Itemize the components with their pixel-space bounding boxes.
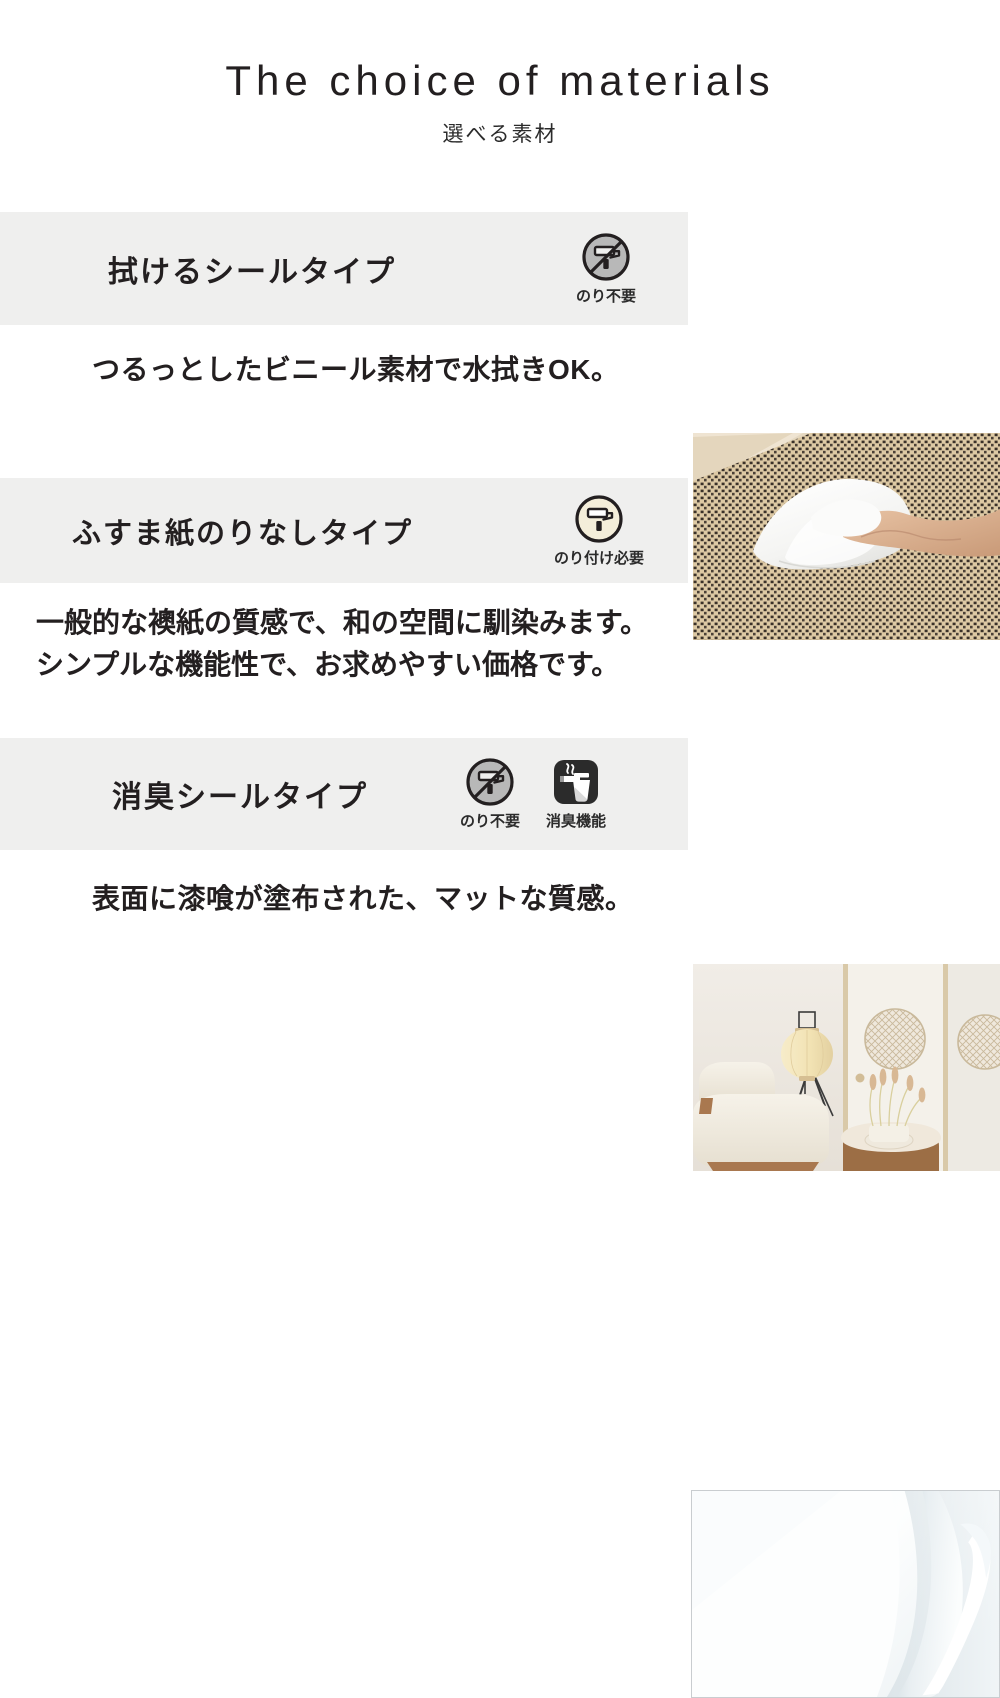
badge-label: のり不要	[460, 810, 520, 831]
material-section-deodorizing: 消臭シールタイプ のり不要	[0, 730, 1000, 980]
description-line: つるっとしたビニール素材で水拭きOK。	[92, 349, 664, 391]
badge-deodorizing: 消臭機能	[540, 757, 612, 831]
deodorizing-function-icon	[551, 757, 601, 807]
badge-label: 消臭機能	[546, 810, 606, 831]
material-section-fusuma-no-glue: ふすま紙のりなしタイプ のり付け必要 一般的な襖紙の質感で、和の空間に馴染みます…	[0, 470, 1000, 715]
no-glue-roller-icon	[465, 757, 515, 807]
section-header-band: 消臭シールタイプ のり不要	[0, 738, 688, 850]
section-description: つるっとしたビニール素材で水拭きOK。	[0, 349, 688, 391]
section-title: 消臭シールタイプ	[112, 772, 368, 816]
badge-group: のり不要	[570, 232, 672, 306]
japanese-interior-fusuma-photo	[693, 964, 1000, 1171]
page-header: The choice of materials 選べる素材	[0, 0, 1000, 200]
description-line: シンプルな機能性で、お求めやすい価格です。	[36, 644, 664, 686]
badge-no-glue: のり不要	[454, 757, 526, 831]
section-title: 拭けるシールタイプ	[108, 247, 396, 291]
section-description: 表面に漆喰が塗布された、マットな質感。	[0, 878, 688, 920]
badge-glue-required: のり付け必要	[546, 494, 652, 568]
description-line: 表面に漆喰が塗布された、マットな質感。	[92, 878, 664, 920]
badge-no-glue: のり不要	[570, 232, 642, 306]
material-section-wipeable: 拭けるシールタイプ のり不要 つるっとしたビニール素材で水拭きOK。	[0, 205, 1000, 450]
white-matte-sheet-photo	[691, 1490, 1000, 1698]
badge-label: のり付け必要	[554, 547, 644, 568]
section-description: 一般的な襖紙の質感で、和の空間に馴染みます。 シンプルな機能性で、お求めやすい価…	[0, 602, 688, 686]
page-title: The choice of materials	[0, 0, 1000, 104]
no-glue-roller-icon	[581, 232, 631, 282]
badge-label: のり不要	[576, 285, 636, 306]
badge-group: のり付け必要	[546, 494, 672, 568]
section-header-band: 拭けるシールタイプ のり不要	[0, 212, 688, 325]
description-line: 一般的な襖紙の質感で、和の空間に馴染みます。	[36, 602, 664, 644]
section-header-band: ふすま紙のりなしタイプ のり付け必要	[0, 478, 688, 583]
page-subtitle: 選べる素材	[0, 104, 1000, 148]
glue-required-roller-icon	[574, 494, 624, 544]
section-title: ふすま紙のりなしタイプ	[72, 510, 413, 552]
badge-group: のり不要 消臭機能	[454, 757, 672, 831]
